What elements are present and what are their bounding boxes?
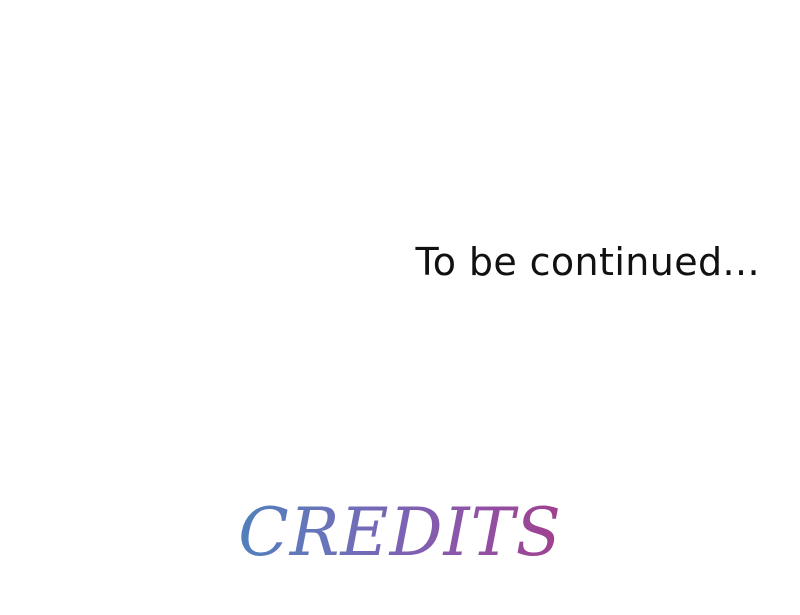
credits-row: CREDITS: [0, 500, 800, 566]
to-be-continued-text: To be continued...: [416, 243, 760, 281]
to-be-continued-row: To be continued...: [0, 243, 760, 281]
end-slide: To be continued... CREDITS: [0, 0, 800, 615]
credits-title: CREDITS: [238, 500, 562, 566]
